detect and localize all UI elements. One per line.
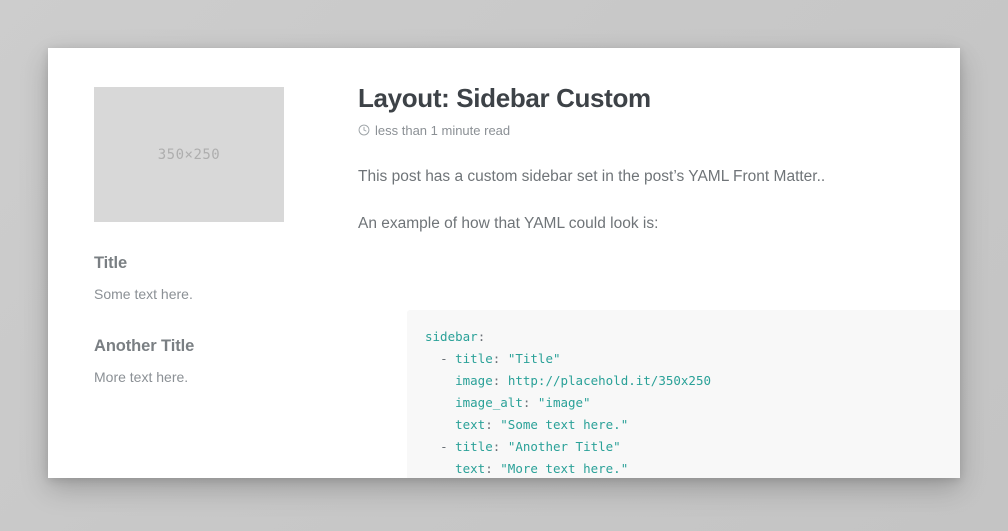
- page-title: Layout: Sidebar Custom: [358, 84, 960, 114]
- sidebar-image-placeholder: 350×250: [94, 87, 284, 222]
- sidebar-block: Another Title More text here.: [94, 337, 294, 388]
- post-paragraph: An example of how that YAML could look i…: [358, 212, 960, 235]
- sidebar-block-title: Title: [94, 254, 294, 273]
- post-sidebar: 350×250 Title Some text here. Another Ti…: [94, 87, 294, 387]
- code-block-content: sidebar: - title: "Title" image: http://…: [425, 326, 960, 478]
- page-card: 350×250 Title Some text here. Another Ti…: [48, 48, 960, 478]
- sidebar-image-placeholder-label: 350×250: [158, 147, 221, 163]
- post-main: Layout: Sidebar Custom less than 1 minut…: [358, 84, 960, 478]
- read-time-label: less than 1 minute read: [375, 123, 510, 138]
- sidebar-block-title: Another Title: [94, 337, 294, 356]
- sidebar-block-text: Some text here.: [94, 285, 294, 305]
- code-block: sidebar: - title: "Title" image: http://…: [407, 310, 960, 478]
- clock-icon: [358, 124, 370, 136]
- post-meta: less than 1 minute read: [358, 123, 960, 138]
- sidebar-block: Title Some text here.: [94, 254, 294, 305]
- screen-background: 350×250 Title Some text here. Another Ti…: [0, 0, 1008, 531]
- page-content: 350×250 Title Some text here. Another Ti…: [48, 48, 960, 478]
- sidebar-block-text: More text here.: [94, 368, 294, 388]
- post-paragraph: This post has a custom sidebar set in th…: [358, 165, 960, 188]
